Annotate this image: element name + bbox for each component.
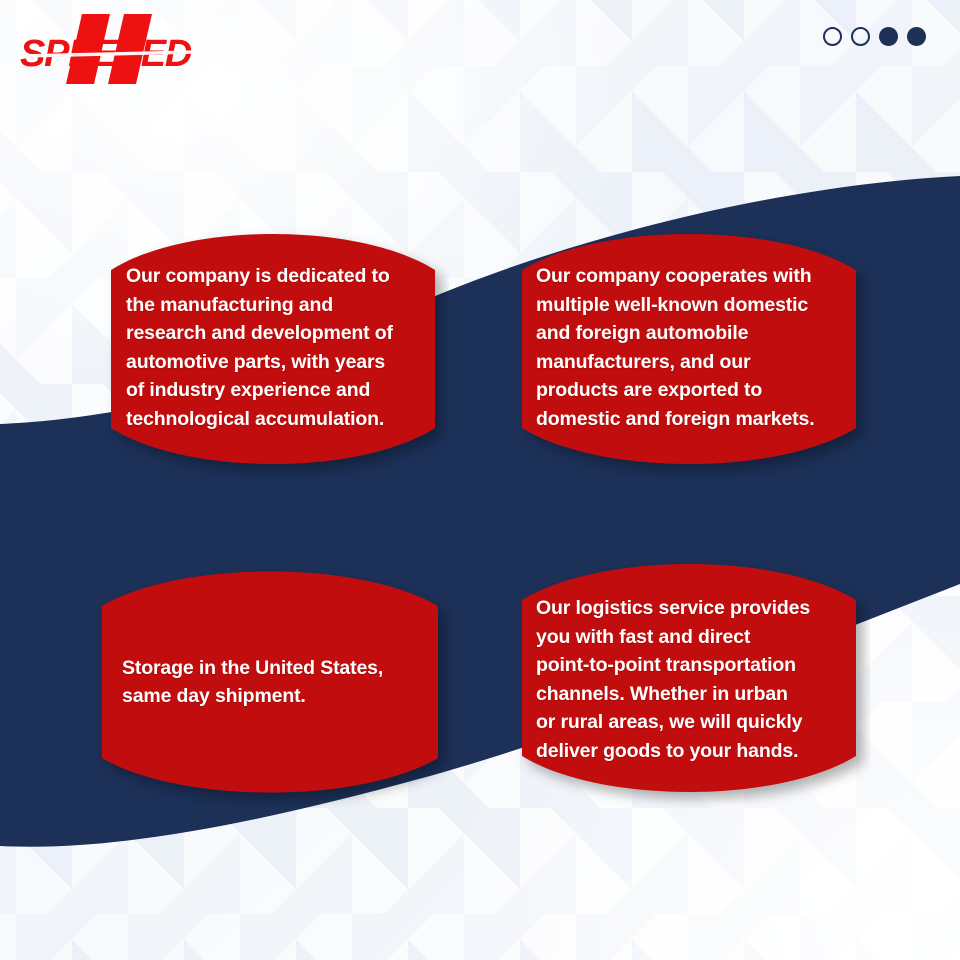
slide-canvas: SPEEEED <box>0 0 960 960</box>
logistics-card[interactable]: Our logistics service provides you with … <box>508 548 870 808</box>
logistics-card-text: Our logistics service provides you with … <box>508 594 870 765</box>
pagination-dot-2[interactable] <box>851 27 870 46</box>
speeeed-logo[interactable]: SPEEEED <box>14 8 214 90</box>
pagination-dot-3[interactable] <box>879 27 898 46</box>
pagination-dots[interactable] <box>823 27 926 46</box>
manufacturing-card-text: Our company is dedicated to the manufact… <box>97 262 449 433</box>
pagination-dot-1[interactable] <box>823 27 842 46</box>
cooperation-card-text: Our company cooperates with multiple wel… <box>508 262 870 433</box>
storage-card-text: Storage in the United States, same day s… <box>88 654 452 711</box>
manufacturing-card[interactable]: Our company is dedicated to the manufact… <box>97 218 449 480</box>
cooperation-card[interactable]: Our company cooperates with multiple wel… <box>508 218 870 480</box>
feature-card-grid: Our company is dedicated to the manufact… <box>0 0 960 960</box>
storage-card[interactable]: Storage in the United States, same day s… <box>88 556 452 808</box>
pagination-dot-4[interactable] <box>907 27 926 46</box>
